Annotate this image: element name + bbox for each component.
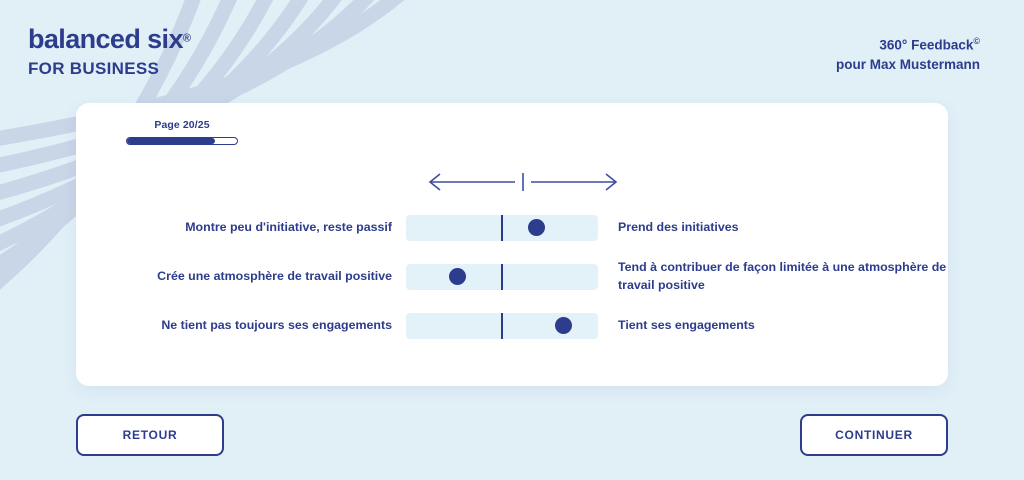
report-subtitle: pour Max Mustermann (836, 55, 980, 75)
slider-1[interactable] (406, 264, 598, 290)
slider-center-divider (501, 264, 503, 290)
row-label-left: Ne tient pas toujours ses engagements (76, 317, 406, 335)
progress-label: Page 20/25 (126, 119, 238, 131)
brand-logo: balanced six® FOR BUSINESS (28, 26, 191, 77)
scale-direction-arrow-icon (420, 169, 626, 195)
row-label-left: Montre peu d'initiative, reste passif (76, 219, 406, 237)
slider-center-divider (501, 313, 503, 339)
report-title: 360° Feedback (879, 38, 973, 53)
survey-rows: Montre peu d'initiative, reste passif Pr… (76, 203, 948, 350)
logo-tagline: FOR BUSINESS (28, 60, 191, 77)
row-label-right: Prend des initiatives (598, 219, 948, 237)
row-label-left: Crée une atmosphère de travail positive (76, 268, 406, 286)
progress-block: Page 20/25 (126, 119, 238, 145)
slider-0[interactable] (406, 215, 598, 241)
table-row: Crée une atmosphère de travail positive … (76, 252, 948, 301)
logo-wordmark: balanced six (28, 26, 183, 53)
slider-thumb[interactable] (449, 268, 466, 285)
progress-bar (126, 137, 238, 145)
slider-2[interactable] (406, 313, 598, 339)
progress-bar-fill (127, 138, 215, 144)
table-row: Montre peu d'initiative, reste passif Pr… (76, 203, 948, 252)
report-title-line: 360° Feedback© (836, 35, 980, 55)
survey-card: Page 20/25 Montre peu d'initiative, rest… (76, 103, 948, 386)
slider-thumb[interactable] (528, 219, 545, 236)
row-label-right: Tient ses engagements (598, 317, 948, 335)
row-label-right: Tend à contribuer de façon limitée à une… (598, 259, 948, 294)
slider-center-divider (501, 215, 503, 241)
slider-thumb[interactable] (555, 317, 572, 334)
logo-wordmark-line: balanced six® (28, 26, 191, 53)
back-button[interactable]: RETOUR (76, 414, 224, 456)
table-row: Ne tient pas toujours ses engagements Ti… (76, 301, 948, 350)
registered-trademark-icon: ® (183, 33, 191, 45)
continue-button[interactable]: CONTINUER (800, 414, 948, 456)
report-heading: 360° Feedback© pour Max Mustermann (836, 35, 980, 75)
copyright-icon: © (973, 36, 980, 46)
